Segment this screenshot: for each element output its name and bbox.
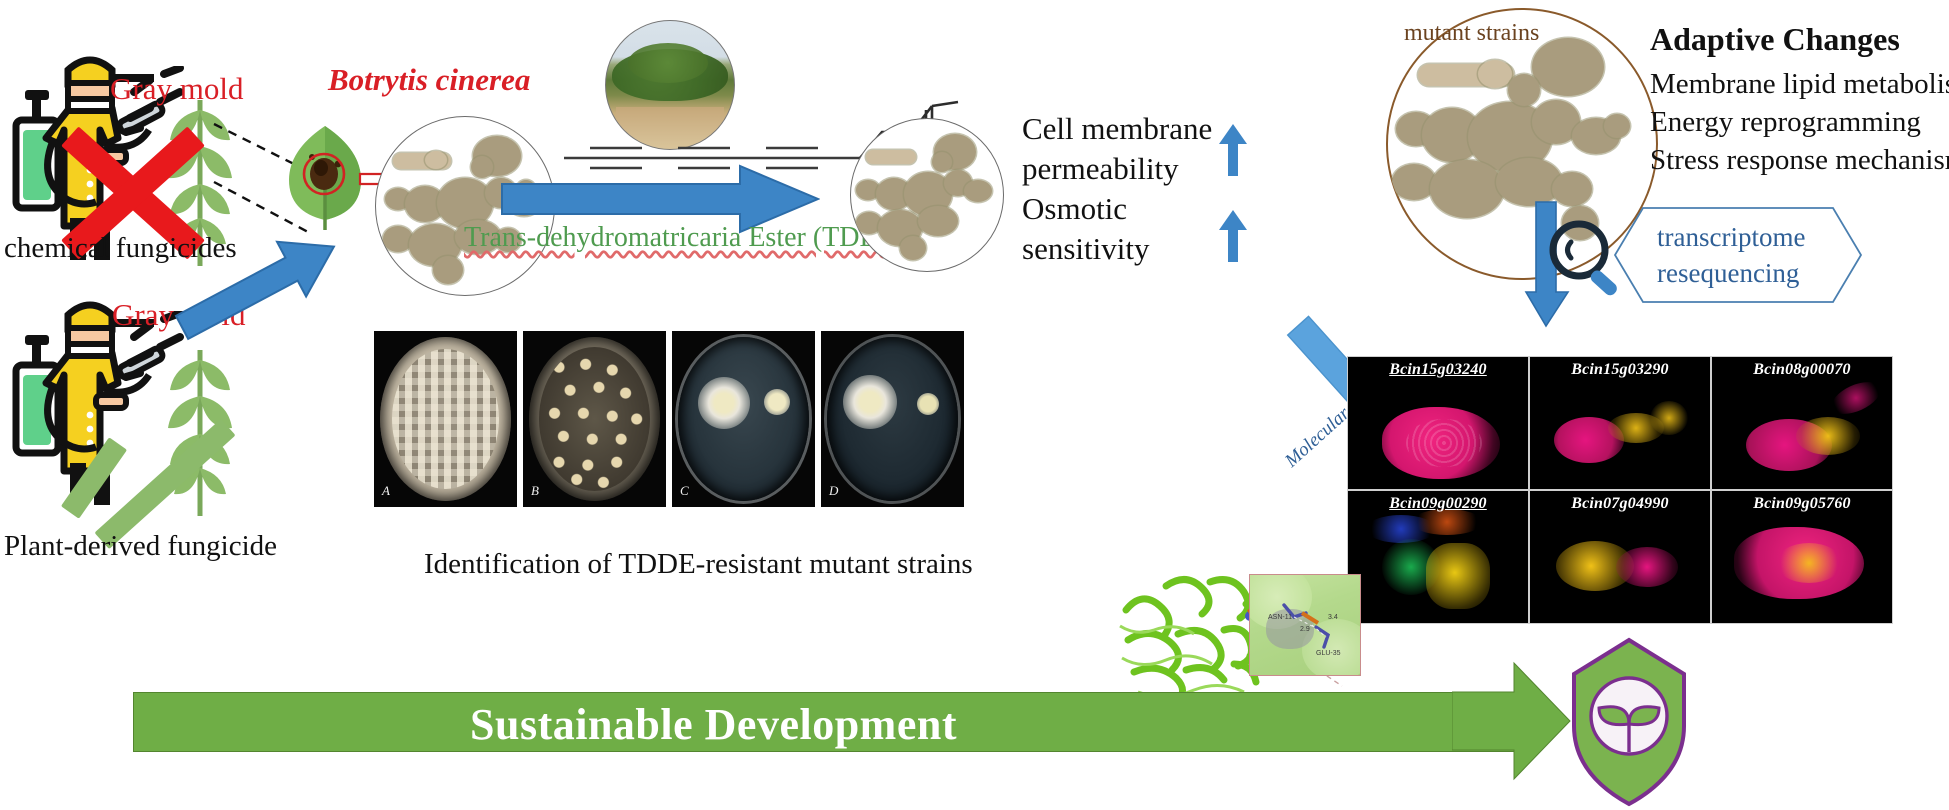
gene-panel-bcin09g00290: Bcin09g00290 bbox=[1347, 490, 1529, 624]
petri-panel-c: C bbox=[672, 331, 815, 507]
petri-label-c: C bbox=[680, 483, 689, 499]
effect-line-3: Osmotic bbox=[1022, 192, 1127, 227]
effect-line-1: Cell membrane bbox=[1022, 112, 1212, 147]
adaptive-item-3: Stress response mechanisms bbox=[1650, 144, 1949, 176]
badge-line-2: resequencing bbox=[1657, 258, 1799, 288]
gene-label: Bcin15g03240 bbox=[1348, 361, 1528, 379]
adaptive-item-1: Membrane lipid metabolism bbox=[1650, 68, 1949, 100]
svg-text:2.9: 2.9 bbox=[1300, 626, 1310, 633]
petri-label-b: B bbox=[531, 483, 539, 499]
gene-label: Bcin09g00290 bbox=[1348, 495, 1528, 513]
gene-label: Bcin08g00070 bbox=[1712, 361, 1892, 379]
svg-text:GLU-35: GLU-35 bbox=[1316, 650, 1341, 657]
svg-text:ASN-11: ASN-11 bbox=[1268, 614, 1292, 621]
petri-caption: Identification of TDDE-resistant mutant … bbox=[424, 548, 973, 580]
adaptive-changes-title: Adaptive Changes bbox=[1650, 22, 1900, 58]
petri-panel-a: A bbox=[374, 331, 517, 507]
petri-label-d: D bbox=[829, 483, 838, 499]
badge-line-1: transcriptome bbox=[1657, 222, 1805, 252]
banner-arrow-head bbox=[1452, 661, 1572, 781]
gene-panel-bcin15g03290: Bcin15g03290 bbox=[1529, 356, 1711, 490]
gene-label: Bcin09g05760 bbox=[1712, 495, 1892, 513]
shield-sprout-icon bbox=[1566, 634, 1692, 810]
mutant-strains-label: mutant strains bbox=[1404, 20, 1539, 47]
gene-panel-bcin08g00070: Bcin08g00070 bbox=[1711, 356, 1893, 490]
plant-derived-fungicide-label: Plant-derived fungicide bbox=[4, 530, 277, 562]
gene-label: Bcin07g04990 bbox=[1530, 495, 1710, 513]
gray-mold-label-top: Gray mold bbox=[110, 72, 243, 107]
tdde-compound-label: Trans-dehydromatricaria Ester (TDDE ) bbox=[464, 222, 913, 253]
gene-panel-bcin15g03240: Bcin15g03240 bbox=[1347, 356, 1529, 490]
up-arrow-icon bbox=[1218, 208, 1248, 264]
adaptive-item-2: Energy reprogramming bbox=[1650, 106, 1921, 138]
transcriptome-resequencing-badge: transcriptome resequencing bbox=[1613, 206, 1863, 304]
petri-panel-b: B bbox=[523, 331, 666, 507]
effect-line-2: permeability bbox=[1022, 152, 1179, 187]
svg-text:3.4: 3.4 bbox=[1328, 614, 1338, 621]
effect-line-4: sensitivity bbox=[1022, 232, 1149, 267]
docking-binding-site-zoom: ASN-11 2.9 3.4 GLU-35 bbox=[1249, 574, 1361, 676]
up-arrow-icon bbox=[1218, 122, 1248, 178]
spore-cluster-right bbox=[850, 118, 1002, 270]
sustainable-development-text: Sustainable Development bbox=[470, 699, 957, 750]
diseased-leaf-icon bbox=[282, 122, 368, 234]
gene-panel-bcin07g04990: Bcin07g04990 bbox=[1529, 490, 1711, 624]
botrytis-cinerea-label: Botrytis cinerea bbox=[328, 63, 530, 98]
gene-panel-bcin09g05760: Bcin09g05760 bbox=[1711, 490, 1893, 624]
plant-fungicide-to-study-arrow bbox=[168, 222, 348, 352]
petri-label-a: A bbox=[382, 483, 390, 499]
petri-panel-d: D bbox=[821, 331, 964, 507]
gene-label: Bcin15g03290 bbox=[1530, 361, 1710, 379]
